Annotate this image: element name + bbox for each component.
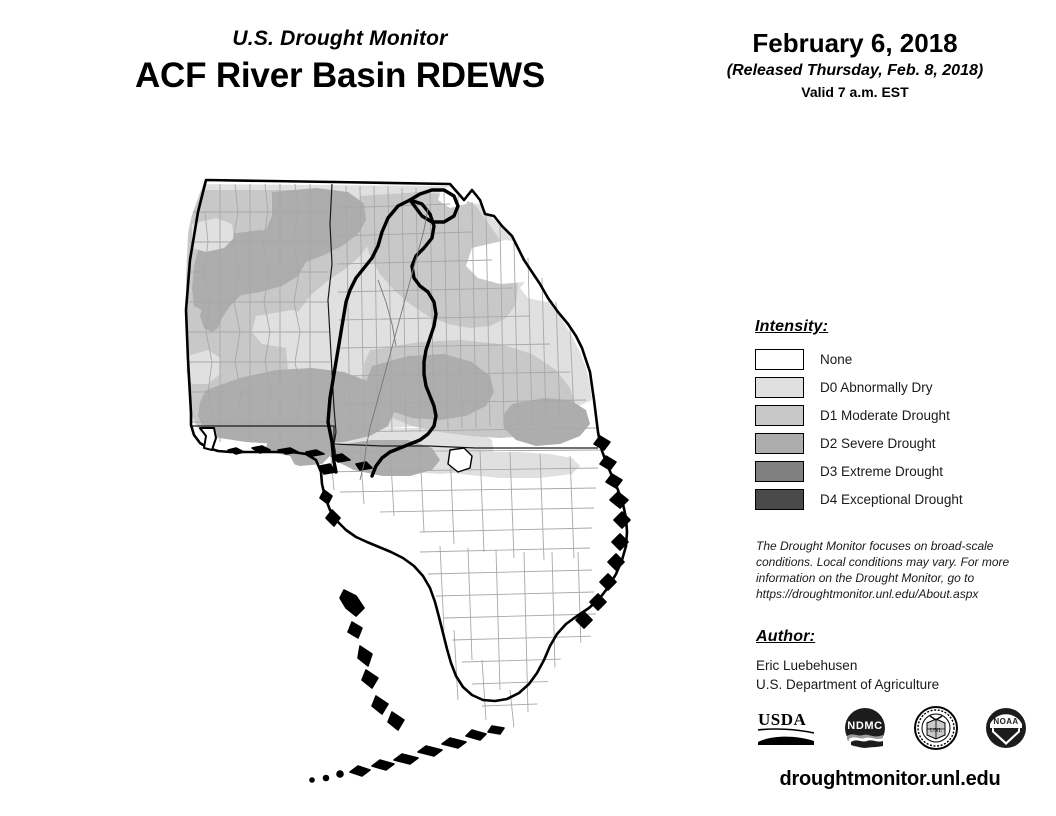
legend-label-none: None <box>820 352 852 367</box>
legend-item-d2[interactable]: D2 Severe Drought <box>755 431 1035 456</box>
usda-logo[interactable]: USDA <box>756 708 818 753</box>
author-heading: Author: <box>756 628 1036 646</box>
ndmc-logo[interactable]: NDMC <box>843 706 887 755</box>
legend-swatch-d1 <box>755 405 804 426</box>
legend-item-d3[interactable]: D3 Extreme Drought <box>755 459 1035 484</box>
legend-swatch-d2 <box>755 433 804 454</box>
legend-swatch-d3 <box>755 461 804 482</box>
legend-item-d0[interactable]: D0 Abnormally Dry <box>755 375 1035 400</box>
svg-text:UNL: UNL <box>929 728 942 734</box>
legend-item-none[interactable]: None <box>755 347 1035 372</box>
svg-text:NOAA: NOAA <box>993 717 1018 726</box>
page-title: ACF River Basin RDEWS <box>0 54 680 98</box>
disclaimer-text: The Drought Monitor focuses on broad-sca… <box>756 538 1022 602</box>
legend-label-d0: D0 Abnormally Dry <box>820 380 933 395</box>
unl-seal-logo[interactable]: UNL <box>913 705 959 756</box>
d2-region-west-panhandle <box>266 430 332 466</box>
legend-item-d1[interactable]: D1 Moderate Drought <box>755 403 1035 428</box>
title-block: U.S. Drought Monitor ACF River Basin RDE… <box>0 26 680 98</box>
svg-text:NDMC: NDMC <box>848 720 883 732</box>
svg-text:USDA: USDA <box>758 710 807 729</box>
map-date: February 6, 2018 <box>690 28 1020 58</box>
footer-url[interactable]: droughtmonitor.unl.edu <box>740 768 1040 791</box>
drought-map <box>120 160 740 810</box>
legend-swatch-d0 <box>755 377 804 398</box>
valid-time: Valid 7 a.m. EST <box>690 83 1020 101</box>
legend-heading: Intensity: <box>755 318 1035 336</box>
logo-row: USDA NDMC UNL NOAA <box>756 704 1028 756</box>
release-date: (Released Thursday, Feb. 8, 2018) <box>690 61 1020 81</box>
legend-label-d1: D1 Moderate Drought <box>820 408 950 423</box>
legend-label-d3: D3 Extreme Drought <box>820 464 943 479</box>
legend-label-d2: D2 Severe Drought <box>820 436 936 451</box>
legend-label-d4: D4 Exceptional Drought <box>820 492 963 507</box>
legend-swatch-d4 <box>755 489 804 510</box>
legend-swatch-none <box>755 349 804 370</box>
drought-monitor-supertitle: U.S. Drought Monitor <box>0 26 680 52</box>
legend-item-d4[interactable]: D4 Exceptional Drought <box>755 487 1035 512</box>
date-block: February 6, 2018 (Released Thursday, Feb… <box>690 28 1020 101</box>
author-block: Author: Eric Luebehusen U.S. Department … <box>756 628 1036 694</box>
author-name: Eric Luebehusen <box>756 656 1036 675</box>
legend: Intensity: None D0 Abnormally Dry D1 Mod… <box>755 318 1035 515</box>
noaa-logo[interactable]: NOAA <box>984 706 1028 755</box>
author-affiliation: U.S. Department of Agriculture <box>756 675 1036 694</box>
